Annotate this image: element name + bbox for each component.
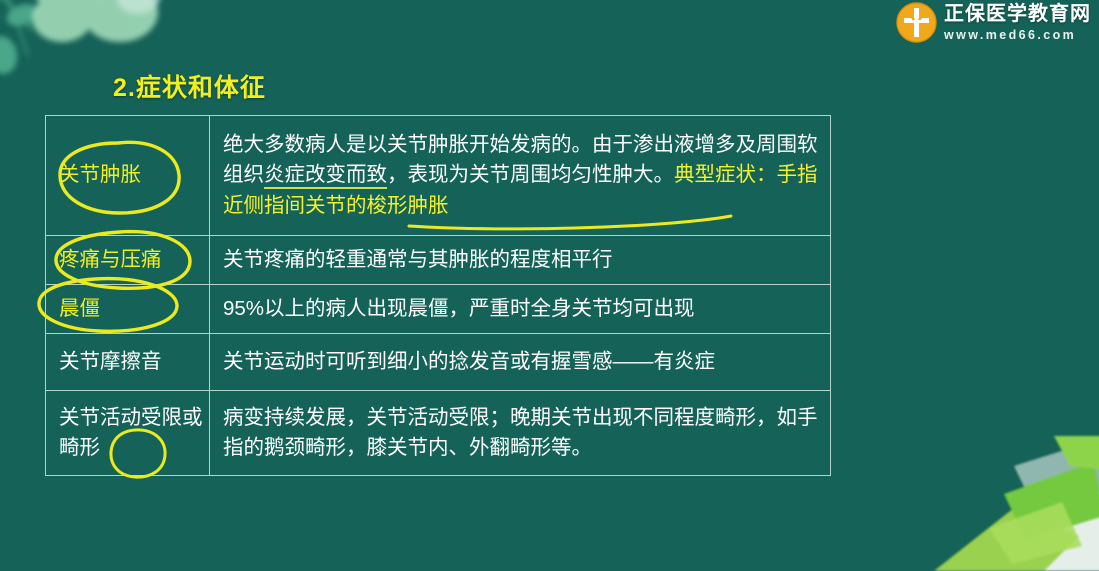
row-body-cell: 绝大多数病人是以关节肿胀开始发病的。由于渗出液增多及周围软组织炎症改变而致，表现…: [210, 116, 831, 236]
leaf-decoration-bottom-right: [894, 436, 1099, 571]
table-row: 晨僵 95%以上的病人出现晨僵，严重时全身关节均可出现: [46, 285, 831, 334]
table-row: 关节活动受限或畸形 病变持续发展，关节活动受限；晚期关节出现不同程度畸形，如手指…: [46, 391, 831, 476]
table-row: 关节肿胀 绝大多数病人是以关节肿胀开始发病的。由于渗出液增多及周围软组织炎症改变…: [46, 116, 831, 236]
row-body-cell: 关节运动时可听到细小的捻发音或有握雪感——有炎症: [210, 334, 831, 391]
row-label-cell: 晨僵: [46, 285, 210, 334]
table-row: 关节摩擦音 关节运动时可听到细小的捻发音或有握雪感——有炎症: [46, 334, 831, 391]
row-body-cell: 关节疼痛的轻重通常与其肿胀的程度相平行: [210, 236, 831, 285]
cross-in-circle-icon: [896, 2, 937, 43]
row-label: 疼痛与压痛: [59, 248, 162, 271]
row-body-part-plain2: ，表现为关节周围均匀性肿大。: [387, 163, 674, 186]
row-label: 关节活动受限或畸形: [59, 406, 203, 459]
row-label-cell: 疼痛与压痛: [46, 236, 210, 285]
symptoms-table: 关节肿胀 绝大多数病人是以关节肿胀开始发病的。由于渗出液增多及周围软组织炎症改变…: [45, 115, 831, 476]
logo-site-url: www.med66.com: [944, 29, 1091, 42]
site-logo: 正保医学教育网 www.med66.com: [896, 2, 1091, 43]
row-body-cell: 95%以上的病人出现晨僵，严重时全身关节均可出现: [210, 285, 831, 334]
row-label: 关节摩擦音: [59, 350, 162, 373]
row-label-cell: 关节肿胀: [46, 116, 210, 236]
row-body-cell: 病变持续发展，关节活动受限；晚期关节出现不同程度畸形，如手指的鹅颈畸形，膝关节内…: [210, 391, 831, 476]
row-label: 关节肿胀: [59, 163, 141, 186]
slide-title: 2.症状和体征: [113, 68, 266, 104]
row-label: 晨僵: [59, 297, 100, 320]
row-label-cell: 关节活动受限或畸形: [46, 391, 210, 476]
table-row: 疼痛与压痛 关节疼痛的轻重通常与其肿胀的程度相平行: [46, 236, 831, 285]
row-label-cell: 关节摩擦音: [46, 334, 210, 391]
row-body-part-underlined: 炎症改变而致: [264, 163, 387, 189]
logo-site-name: 正保医学教育网: [944, 4, 1091, 24]
